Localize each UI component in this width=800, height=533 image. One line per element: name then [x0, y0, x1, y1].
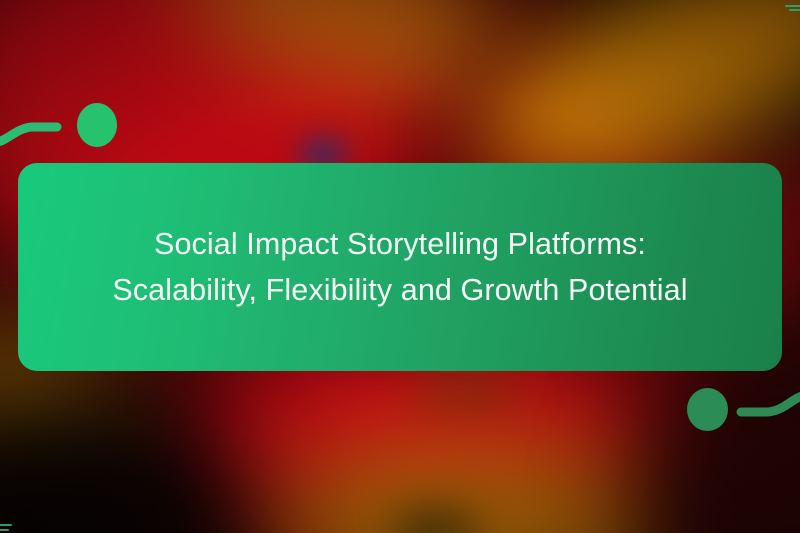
- dash-line-icon: [785, 5, 800, 7]
- circle-icon: [77, 103, 117, 147]
- dash-line-icon: [789, 9, 800, 11]
- page-title-line-2: Scalability, Flexibility and Growth Pote…: [112, 267, 687, 313]
- arc-curve-icon: [736, 390, 800, 435]
- hero-card: Social Impact Storytelling Platforms: Sc…: [18, 163, 782, 371]
- circle-icon: [687, 388, 728, 431]
- dash-line-icon: [0, 529, 9, 531]
- dash-line-icon: [0, 524, 12, 526]
- page-title-line-1: Social Impact Storytelling Platforms:: [154, 221, 646, 267]
- banner-canvas: Social Impact Storytelling Platforms: Sc…: [0, 0, 800, 533]
- arc-curve-icon: [0, 112, 66, 157]
